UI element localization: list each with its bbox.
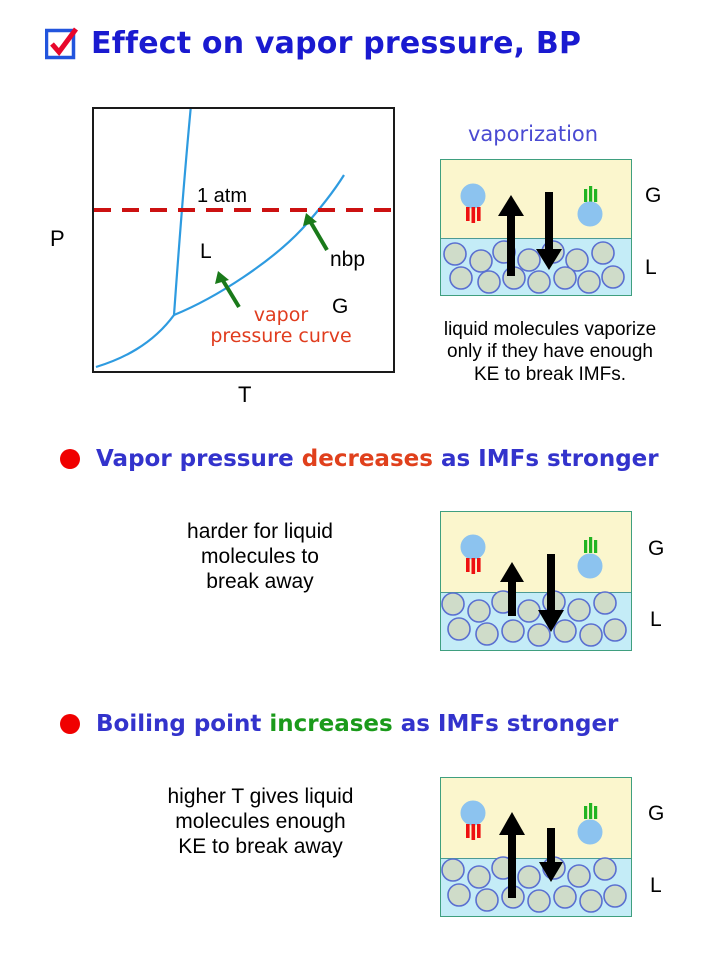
checkbox-checked-icon	[45, 27, 79, 61]
fast-molecule-icon-3	[578, 803, 602, 844]
vaporization-diagram-3	[440, 777, 632, 917]
liquid-molecules-2	[442, 591, 626, 646]
vapor-pressure-caption-line1: harder for liquid	[140, 520, 380, 545]
vaporization-diagram-2	[440, 511, 632, 651]
page-title: Effect on vapor pressure, BP	[91, 26, 581, 61]
boiling-point-caption-line1: higher T gives liquid	[128, 785, 393, 810]
liquid-molecules-1	[444, 241, 624, 293]
one-atm-label: 1 atm	[197, 185, 247, 208]
phase-diagram-y-axis-label: P	[50, 226, 65, 252]
bullet-dot-icon-1	[60, 449, 80, 469]
gas-label-3: G	[648, 802, 664, 826]
phase-diagram-x-axis-label: T	[238, 382, 251, 408]
vapor-pressure-caption: harder for liquid molecules to break awa…	[140, 520, 380, 594]
bullet-vapor-pressure: Vapor pressure decreases as IMFs stronge…	[60, 446, 659, 472]
bullet2-part1: Boiling point	[96, 711, 269, 737]
bullet1-part3: as IMFs stronger	[433, 446, 659, 472]
bullet-dot-icon-2	[60, 714, 80, 734]
vaporization-caption: liquid molecules vaporize only if they h…	[405, 319, 695, 386]
phase-region-liquid-label: L	[200, 240, 212, 264]
bullet-boiling-point: Boiling point increases as IMFs stronger	[60, 711, 618, 737]
vapor-pressure-curve-label: vapor pressure curve	[186, 305, 376, 348]
fast-molecule-icon-1	[578, 186, 602, 226]
vaporization-heading: vaporization	[468, 122, 598, 146]
vapor-pressure-caption-line2: molecules to	[140, 545, 380, 570]
bullet-vapor-pressure-text: Vapor pressure decreases as IMFs stronge…	[96, 446, 659, 472]
boiling-point-caption: higher T gives liquid molecules enough K…	[128, 785, 393, 859]
slow-molecule-icon-3	[461, 801, 485, 840]
nbp-label: nbp	[330, 248, 365, 272]
fast-molecule-icon-2	[578, 537, 602, 578]
bullet-boiling-point-text: Boiling point increases as IMFs stronger	[96, 711, 618, 737]
slow-molecule-icon-1	[461, 184, 485, 223]
vapor-pressure-curve-label-line1: vapor	[186, 305, 376, 326]
vapor-curve-arrow-icon	[215, 271, 239, 307]
vaporization-caption-line3: KE to break IMFs.	[405, 364, 695, 386]
molecules-svg-1	[441, 160, 631, 295]
bullet1-part2: decreases	[302, 446, 433, 472]
vapor-pressure-caption-line3: break away	[140, 570, 380, 595]
vaporization-caption-line2: only if they have enough	[405, 341, 695, 363]
slide-title-row: Effect on vapor pressure, BP	[45, 26, 581, 61]
boiling-point-caption-line3: KE to break away	[128, 835, 393, 860]
bullet1-part1: Vapor pressure	[96, 446, 302, 472]
vaporization-diagram-1	[440, 159, 632, 296]
slow-molecule-icon-2	[461, 535, 485, 574]
gas-label-2: G	[648, 537, 664, 561]
vapor-pressure-curve-label-line2: pressure curve	[186, 326, 376, 347]
gas-label-1: G	[645, 184, 661, 208]
sublimation-curve	[96, 315, 174, 367]
liquid-label-1: L	[645, 256, 657, 280]
bullet2-part3: as IMFs stronger	[393, 711, 619, 737]
vaporization-caption-line1: liquid molecules vaporize	[405, 319, 695, 341]
liquid-label-2: L	[650, 608, 662, 632]
molecules-svg-2	[441, 512, 631, 650]
liquid-molecules-3	[442, 857, 626, 912]
boiling-point-caption-line2: molecules enough	[128, 810, 393, 835]
molecules-svg-3	[441, 778, 631, 916]
liquid-label-3: L	[650, 874, 662, 898]
nbp-arrow-icon	[303, 213, 327, 250]
bullet2-part2: increases	[269, 711, 392, 737]
